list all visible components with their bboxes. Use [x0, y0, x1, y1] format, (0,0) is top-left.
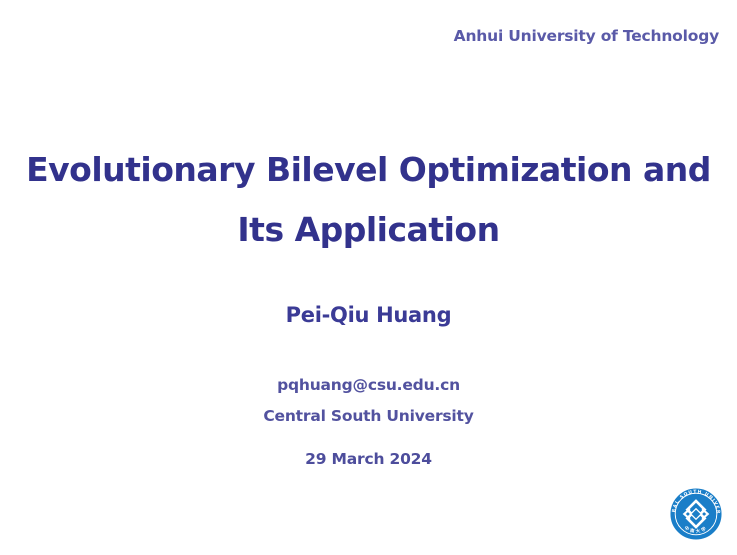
presentation-title-slide: Anhui University of Technology Evolution…: [0, 0, 737, 555]
contact-block: pqhuang@csu.edu.cn Central South Univers…: [0, 370, 737, 432]
csu-seal-icon: CENTRAL SOUTH UNIVERSITY 中南大学: [665, 483, 727, 545]
title-block: Evolutionary Bilevel Optimization and It…: [0, 140, 737, 260]
title-line-1: Evolutionary Bilevel Optimization and: [0, 140, 737, 200]
presentation-date: 29 March 2024: [0, 450, 737, 468]
author-name: Pei-Qiu Huang: [0, 303, 737, 327]
csu-logo: CENTRAL SOUTH UNIVERSITY 中南大学: [665, 483, 727, 545]
header-institution-label: Anhui University of Technology: [454, 27, 719, 45]
author-affiliation: Central South University: [0, 401, 737, 432]
author-email: pqhuang@csu.edu.cn: [0, 370, 737, 401]
title-line-2: Its Application: [0, 200, 737, 260]
